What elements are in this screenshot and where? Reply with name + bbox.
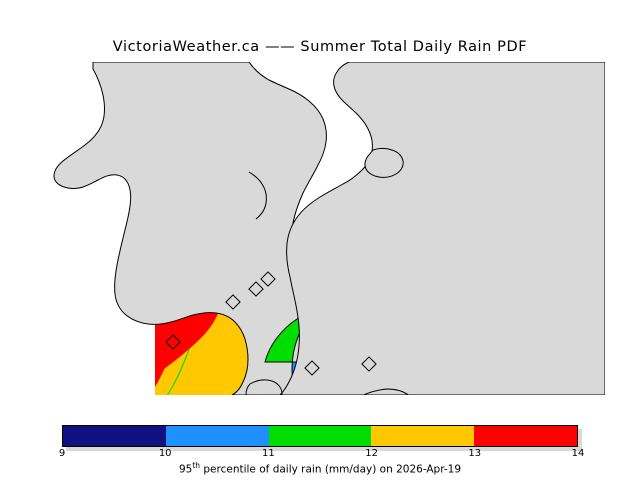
colorbar-strip[interactable] bbox=[62, 425, 578, 447]
island-north bbox=[365, 149, 403, 178]
colorbar bbox=[62, 425, 578, 447]
colorbar-caption: 95th percentile of daily rain (mm/day) o… bbox=[0, 461, 640, 476]
colorbar-tick-9: 9 bbox=[59, 448, 65, 459]
colorbar-segment-11-12[interactable] bbox=[269, 426, 372, 446]
colorbar-segment-10-11[interactable] bbox=[166, 426, 269, 446]
colorbar-tick-12: 12 bbox=[365, 448, 378, 459]
colorbar-tick-14: 14 bbox=[572, 448, 585, 459]
colorbar-ticks: 91011121314 bbox=[62, 448, 578, 462]
colorbar-segment-12-13[interactable] bbox=[371, 426, 474, 446]
caption-superscript: th bbox=[192, 461, 200, 470]
caption-rest: percentile of daily rain (mm/day) on 202… bbox=[200, 464, 461, 476]
caption-prefix: 95 bbox=[179, 464, 192, 476]
colorbar-tick-10: 10 bbox=[159, 448, 172, 459]
page-title: VictoriaWeather.ca —— Summer Total Daily… bbox=[0, 39, 640, 55]
colorbar-tick-13: 13 bbox=[468, 448, 481, 459]
colorbar-tick-11: 11 bbox=[262, 448, 275, 459]
colorbar-segment-9-10[interactable] bbox=[63, 426, 166, 446]
map-graphic bbox=[35, 62, 605, 395]
weather-map-page: VictoriaWeather.ca —— Summer Total Daily… bbox=[0, 0, 640, 480]
colorbar-segment-13-14[interactable] bbox=[474, 426, 577, 446]
map-canvas[interactable] bbox=[35, 62, 605, 395]
